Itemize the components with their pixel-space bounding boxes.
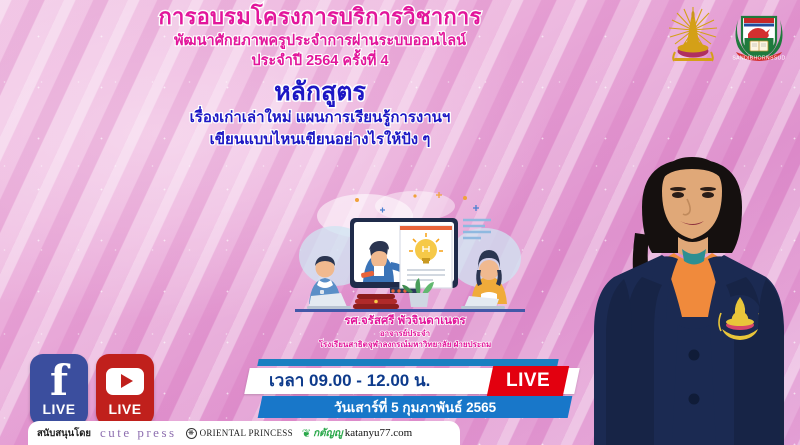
youtube-live-label: LIVE — [108, 401, 141, 417]
katanyu-logo: ❦ กตัญญู katanyu77.com — [302, 426, 412, 441]
header-block: การอบรมโครงการบริการวิชาการ พัฒนาศักยภาพ… — [0, 4, 640, 151]
date-text: วันเสาร์ที่ 5 กุมภาพันธ์ 2565 — [334, 396, 496, 418]
speaker-name: รศ.จรัสศรี พัวจินดาเนตร — [250, 314, 560, 328]
webinar-poster: การอบรมโครงการบริการวิชาการ พัฒนาศักยภาพ… — [0, 0, 800, 445]
facebook-live-button[interactable]: f LIVE — [30, 354, 88, 426]
course-label: หลักสูตร — [0, 77, 640, 107]
chulalongkorn-university-emblem-icon — [664, 4, 722, 64]
katanyu-leaf-icon: ❦ — [302, 427, 311, 440]
social-live-buttons: f LIVE LIVE — [30, 354, 154, 426]
topic-line-2: เขียนแบบไหนเขียนอย่างไรให้ปัง ๆ — [0, 129, 640, 151]
cute-press-logo: cute press — [100, 425, 177, 441]
facebook-live-label: LIVE — [42, 401, 75, 417]
speaker-photo — [590, 137, 800, 445]
crest-banner-text: SANDIBHORNSSUD — [732, 55, 785, 61]
sandibhornssud-school-crest-icon: SANDIBHORNSSUD — [730, 4, 788, 64]
youtube-play-triangle — [121, 374, 133, 388]
speaker-caption: รศ.จรัสศรี พัวจินดาเนตร อาจารย์ประจำ โรง… — [250, 314, 560, 350]
subtitle-line-1: พัฒนาศักยภาพครูประจำการผ่านระบบออนไลน์ — [0, 31, 640, 51]
oriental-princess-text: ORIENTAL PRINCESS — [200, 428, 293, 438]
youtube-live-button[interactable]: LIVE — [96, 354, 154, 426]
oriental-princess-logo: ❋ ORIENTAL PRINCESS — [186, 428, 293, 439]
sponsor-label: สนับสนุนโดย — [37, 426, 91, 441]
banner-accent-bar — [257, 359, 558, 366]
katanyu-thai-text: กตัญญู — [313, 426, 343, 441]
youtube-icon — [106, 361, 144, 401]
katanyu-url-text: katanyu77.com — [345, 427, 413, 439]
topic-line-1: เรื่องเก่าเล่าใหม่ แผนการเรียนรู้การงานฯ — [0, 107, 640, 129]
youtube-play-box — [106, 368, 144, 395]
subtitle-line-2: ประจำปี 2564 ครั้งที่ 4 — [0, 51, 640, 71]
page-title: การอบรมโครงการบริการวิชาการ — [0, 4, 640, 30]
facebook-f-glyph: f — [50, 361, 68, 401]
sponsor-strip: สนับสนุนโดย cute press ❋ ORIENTAL PRINCE… — [28, 421, 460, 445]
logo-group: SANDIBHORNSSUD — [664, 4, 788, 64]
live-badge-text: LIVE — [506, 370, 550, 392]
online-learning-illustration — [295, 186, 525, 318]
oriental-princess-mark-icon: ❋ — [186, 428, 197, 439]
speaker-organization: โรงเรียนสาธิตจุฬาลงกรณ์มหาวิทยาลัย ฝ่ายป… — [250, 339, 560, 350]
facebook-icon: f — [50, 361, 68, 401]
live-badge: LIVE — [487, 366, 569, 396]
date-banner: วันเสาร์ที่ 5 กุมภาพันธ์ 2565 — [258, 396, 573, 418]
speaker-role: อาจารย์ประจำ — [250, 328, 560, 339]
